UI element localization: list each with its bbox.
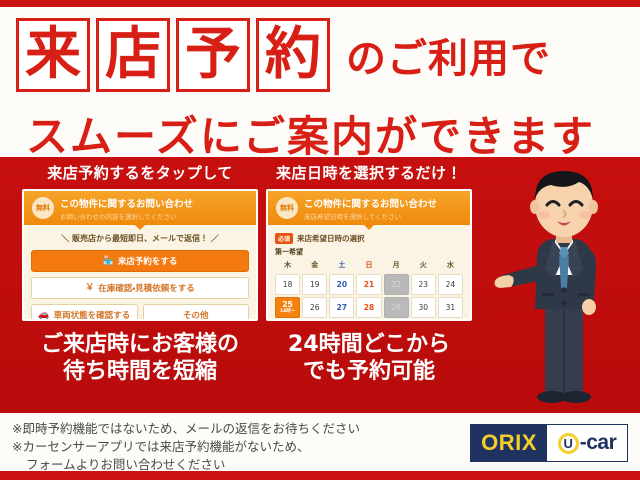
left-caption-line1: ご来店時にお客様の bbox=[14, 332, 266, 359]
kanji-char-3: 予 bbox=[185, 27, 241, 83]
right-column-title: 来店日時を選択するだけ！ bbox=[266, 162, 472, 183]
free-badge: 無料 bbox=[276, 197, 298, 219]
calendar-weekday: 月 bbox=[384, 260, 409, 272]
car-text: -car bbox=[580, 431, 617, 455]
calendar-day-cell[interactable]: 24 bbox=[438, 274, 463, 295]
calendar-weekday: 火 bbox=[411, 260, 436, 272]
calendar-day-cell: 29 bbox=[384, 297, 409, 318]
calendar-day-number: 23 bbox=[419, 280, 429, 289]
calendar-day-cell[interactable]: 26 bbox=[302, 297, 327, 318]
orix-text: ORIX bbox=[481, 430, 537, 456]
left-column-title: 来店予約するをタップして bbox=[22, 162, 258, 183]
store-icon: 🏪 bbox=[103, 257, 114, 266]
calendar-day-number: 25 bbox=[282, 300, 292, 309]
calendar-day-number: 26 bbox=[310, 303, 320, 312]
calendar-day-cell[interactable]: 18 bbox=[275, 274, 300, 295]
inquiry-form-header: 無料 この物件に関するお問い合わせ お問い合わせの内容を選択してください bbox=[24, 191, 256, 225]
kanji-box-4: 約 bbox=[256, 18, 330, 92]
banner-root: 来 店 予 約 のご利用で スムーズにご案内ができます 来店予約するをタップして… bbox=[0, 0, 640, 480]
yen-icon: ￥ bbox=[85, 284, 94, 293]
calendar-day-cell[interactable]: 2514時～ bbox=[275, 297, 300, 318]
calendar-weekday: 水 bbox=[438, 260, 463, 272]
other-button[interactable]: その他 bbox=[143, 304, 250, 321]
header-notch bbox=[364, 225, 374, 230]
calendar-day-cell[interactable]: 28 bbox=[356, 297, 381, 318]
reserve-visit-button[interactable]: 🏪 来店予約をする bbox=[31, 250, 249, 272]
kanji-char-4: 約 bbox=[265, 27, 321, 83]
calendar-section-label: 必須 来店希望日時の選択 bbox=[275, 233, 463, 244]
calendar-day-number: 27 bbox=[337, 303, 347, 312]
calendar-body: 必須 来店希望日時の選択 第一希望 木金土日月火水181920212223242… bbox=[268, 225, 470, 321]
secondary-button-row: 🚗 車両状態を確認する その他 bbox=[31, 304, 249, 321]
right-column: 来店日時を選択するだけ！ 無料 この物件に関するお問い合わせ 来店希望日時を選択… bbox=[266, 162, 472, 321]
calendar-day-cell[interactable]: 19 bbox=[302, 274, 327, 295]
kanji-box-3: 予 bbox=[176, 18, 250, 92]
calendar-day-time: 14時～ bbox=[280, 310, 295, 315]
headline-line2: スムーズにご案内ができます bbox=[26, 103, 595, 164]
car-icon: 🚗 bbox=[38, 311, 49, 320]
u-letter: U bbox=[564, 437, 573, 450]
stock-quote-label: 在庫確認・見積依頼をする bbox=[98, 282, 194, 294]
left-column: 来店予約するをタップして 無料 この物件に関するお問い合わせ お問い合わせの内容… bbox=[22, 162, 258, 321]
vehicle-condition-label: 車両状態を確認する bbox=[54, 309, 131, 321]
kanji-char-1: 来 bbox=[25, 27, 81, 83]
bottom-red-rule bbox=[0, 471, 640, 480]
inquiry-form-body: ＼ 販売店から最短即日、メールで返信！ ／ 🏪 来店予約をする ￥ 在庫確認・見… bbox=[24, 225, 256, 321]
kanji-box-1: 来 bbox=[16, 18, 90, 92]
calendar-subtitle: 来店希望日時を選択してください bbox=[304, 211, 462, 221]
kanji-box-2: 店 bbox=[96, 18, 170, 92]
calendar-day-number: 19 bbox=[310, 280, 320, 289]
red-feature-section: 来店予約するをタップして 無料 この物件に関するお問い合わせ お問い合わせの内容… bbox=[0, 157, 640, 413]
calendar-day-number: 24 bbox=[446, 280, 456, 289]
calendar-title: この物件に関するお問い合わせ bbox=[304, 196, 462, 210]
top-red-rule bbox=[0, 0, 640, 7]
calendar-day-number: 18 bbox=[283, 280, 293, 289]
calendar-day-cell[interactable]: 23 bbox=[411, 274, 436, 295]
calendar-day-cell[interactable]: 27 bbox=[329, 297, 354, 318]
orix-ucar-logo: ORIX U -car bbox=[470, 424, 628, 462]
inquiry-form-subtitle: お問い合わせの内容を選択してください bbox=[60, 211, 248, 221]
header-notch bbox=[135, 225, 145, 230]
calendar-day-number: 21 bbox=[364, 280, 374, 289]
headline-section: 来 店 予 約 のご利用で スムーズにご案内ができます bbox=[0, 8, 640, 156]
salesman-illustration bbox=[493, 157, 633, 413]
stock-quote-button[interactable]: ￥ 在庫確認・見積依頼をする bbox=[31, 277, 249, 299]
other-label: その他 bbox=[183, 309, 209, 321]
calendar-grid[interactable]: 木金土日月火水181920212223242514時～262728293031 bbox=[275, 260, 463, 318]
right-caption-line1: 24時間どこから bbox=[262, 332, 476, 359]
right-caption-line2: でも予約可能 bbox=[262, 359, 476, 386]
calendar-weekday: 日 bbox=[356, 260, 381, 272]
inquiry-form-mockup: 無料 この物件に関するお問い合わせ お問い合わせの内容を選択してください ＼ 販… bbox=[22, 189, 258, 321]
calendar-weekday: 金 bbox=[302, 260, 327, 272]
required-badge: 必須 bbox=[275, 233, 293, 244]
calendar-weekday: 土 bbox=[329, 260, 354, 272]
headline-tail: のご利用で bbox=[346, 26, 551, 84]
calendar-weekday: 木 bbox=[275, 260, 300, 272]
calendar-mockup: 無料 この物件に関するお問い合わせ 来店希望日時を選択してください 必須 来店希… bbox=[266, 189, 472, 321]
calendar-day-cell: 22 bbox=[384, 274, 409, 295]
footnotes: ※即時予約機能ではないため、メールの返信をお待ちください ※カーセンサーアプリで… bbox=[12, 420, 442, 474]
calendar-day-number: 20 bbox=[337, 280, 347, 289]
headline-line1: 来 店 予 約 のご利用で bbox=[16, 18, 551, 92]
calendar-header: 無料 この物件に関するお問い合わせ 来店希望日時を選択してください bbox=[268, 191, 470, 225]
ucar-wordmark: U -car bbox=[547, 425, 627, 461]
calendar-day-number: 31 bbox=[446, 303, 456, 312]
calendar-day-cell[interactable]: 31 bbox=[438, 297, 463, 318]
inquiry-form-title: この物件に関するお問い合わせ bbox=[60, 196, 248, 210]
right-caption: 24時間どこから でも予約可能 bbox=[262, 332, 476, 386]
calendar-day-cell[interactable]: 20 bbox=[329, 274, 354, 295]
left-caption-line2: 待ち時間を短縮 bbox=[14, 359, 266, 386]
calendar-section-text: 来店希望日時の選択 bbox=[297, 233, 365, 244]
calendar-day-number: 22 bbox=[391, 280, 401, 289]
preference-label: 第一希望 bbox=[275, 247, 463, 257]
calendar-day-cell[interactable]: 30 bbox=[411, 297, 436, 318]
vehicle-condition-button[interactable]: 🚗 車両状態を確認する bbox=[31, 304, 138, 321]
left-caption: ご来店時にお客様の 待ち時間を短縮 bbox=[14, 332, 266, 386]
reserve-visit-label: 来店予約をする bbox=[118, 255, 178, 267]
free-badge: 無料 bbox=[32, 197, 54, 219]
calendar-day-number: 28 bbox=[364, 303, 374, 312]
calendar-day-cell[interactable]: 21 bbox=[356, 274, 381, 295]
calendar-day-number: 29 bbox=[391, 303, 401, 312]
kanji-char-2: 店 bbox=[105, 27, 161, 83]
footnote-1: ※即時予約機能ではないため、メールの返信をお待ちください bbox=[12, 420, 442, 438]
orix-wordmark: ORIX bbox=[471, 425, 547, 461]
calendar-day-number: 30 bbox=[419, 303, 429, 312]
u-ring-icon: U bbox=[558, 433, 579, 454]
footnote-2: ※カーセンサーアプリでは来店予約機能がないため、 bbox=[12, 438, 442, 456]
inquiry-lead-text: ＼ 販売店から最短即日、メールで返信！ ／ bbox=[31, 233, 249, 244]
